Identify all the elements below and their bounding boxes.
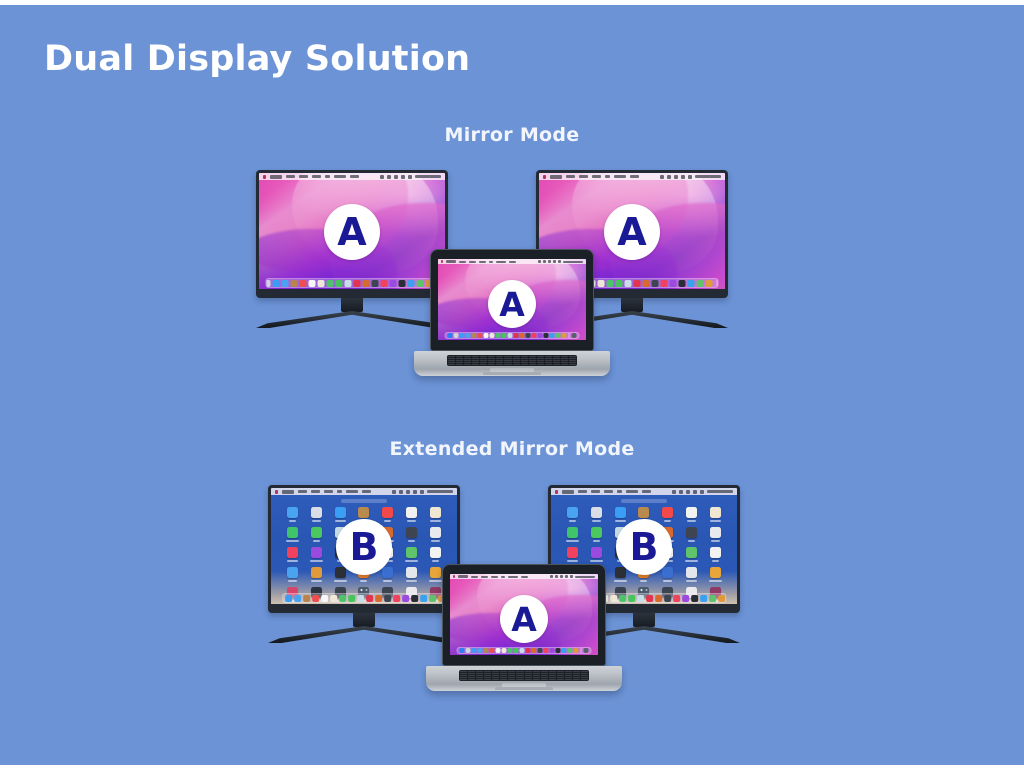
keyboard-key[interactable] — [496, 362, 503, 363]
apple-icon[interactable] — [543, 175, 546, 179]
launchpad-app-item[interactable] — [709, 567, 722, 582]
dock-item-keynote[interactable] — [562, 333, 567, 338]
menubar-clock[interactable] — [427, 490, 453, 493]
keyboard-key[interactable] — [508, 675, 515, 676]
app-icon[interactable] — [615, 507, 626, 518]
keyboard-key[interactable] — [565, 675, 572, 676]
dock-item-keynote[interactable] — [706, 280, 713, 287]
keyboard-key[interactable] — [492, 671, 499, 672]
launchpad-page-dots[interactable] — [361, 589, 368, 591]
app-icon[interactable] — [287, 547, 298, 558]
battery-icon[interactable] — [394, 175, 398, 179]
dock-item-photos[interactable] — [502, 333, 507, 338]
menubar-item[interactable] — [471, 576, 478, 578]
menubar-item[interactable] — [325, 175, 330, 178]
menubar-item[interactable] — [446, 260, 456, 263]
dock-item-tv[interactable] — [673, 595, 680, 602]
wifi-icon[interactable] — [660, 175, 664, 179]
dock-item-podcasts[interactable] — [526, 333, 531, 338]
keyboard-key[interactable] — [460, 679, 467, 680]
bluetooth-icon[interactable] — [543, 260, 546, 263]
keyboard-key[interactable] — [513, 364, 520, 365]
keyboard-key[interactable] — [537, 360, 544, 361]
dock-item-facetime[interactable] — [354, 280, 361, 287]
dock-item-photos[interactable] — [514, 648, 519, 653]
keyboard-key[interactable] — [508, 673, 515, 674]
menubar-item[interactable] — [578, 490, 587, 493]
keyboard-key[interactable] — [492, 679, 499, 680]
keyboard-key[interactable] — [504, 358, 511, 359]
battery-icon[interactable] — [674, 175, 678, 179]
dock-item-podcasts[interactable] — [384, 595, 391, 602]
keyboard-key[interactable] — [508, 671, 515, 672]
dock-item-photos[interactable] — [616, 280, 623, 287]
keyboard-key[interactable] — [472, 360, 479, 361]
dock-item-system-preferences[interactable] — [691, 595, 698, 602]
dock-item-finder[interactable] — [448, 333, 453, 338]
menubar-item[interactable] — [459, 261, 466, 263]
search-icon[interactable] — [693, 490, 697, 494]
dock-item-calendar[interactable] — [312, 595, 319, 602]
menubar-item[interactable] — [458, 575, 468, 578]
launchpad-app-item[interactable] — [335, 507, 346, 522]
keyboard-key[interactable] — [448, 356, 455, 357]
control-center-icon[interactable] — [700, 490, 704, 494]
dock-item-music[interactable] — [643, 280, 650, 287]
keyboard-key[interactable] — [573, 671, 580, 672]
app-icon[interactable] — [686, 507, 697, 518]
dock-item-maps[interactable] — [508, 648, 513, 653]
app-icon[interactable] — [311, 567, 322, 578]
macos-dock[interactable] — [445, 332, 580, 339]
keyboard-key[interactable] — [456, 360, 463, 361]
dock-item-contacts[interactable] — [303, 595, 310, 602]
dock-item-facetime[interactable] — [366, 595, 373, 602]
keyboard-key[interactable] — [573, 673, 580, 674]
keyboard-key[interactable] — [545, 360, 552, 361]
app-icon[interactable] — [686, 547, 697, 558]
keyboard-key[interactable] — [533, 675, 540, 676]
dock-item-contacts[interactable] — [472, 333, 477, 338]
battery-icon[interactable] — [548, 260, 551, 263]
keyboard-key[interactable] — [553, 356, 560, 357]
keyboard-key[interactable] — [541, 677, 548, 678]
apple-icon[interactable] — [263, 175, 266, 179]
menubar-item[interactable] — [508, 576, 518, 578]
menubar-item[interactable] — [550, 175, 562, 179]
keyboard-key[interactable] — [480, 356, 487, 357]
menubar-item[interactable] — [604, 490, 613, 493]
launchpad-search-field[interactable] — [621, 499, 667, 503]
menubar-item[interactable] — [282, 490, 294, 494]
dock-item-maps[interactable] — [496, 333, 501, 338]
keyboard-key[interactable] — [525, 675, 532, 676]
keyboard-key[interactable] — [516, 679, 523, 680]
dock-item-pages[interactable] — [700, 595, 707, 602]
launchpad-app-item[interactable] — [405, 547, 418, 562]
keyboard-key[interactable] — [492, 677, 499, 678]
keyboard-key[interactable] — [565, 677, 572, 678]
dock-item-reminders[interactable] — [502, 648, 507, 653]
launchpad-app-item[interactable] — [591, 527, 602, 542]
keyboard-key[interactable] — [456, 358, 463, 359]
launchpad-app-item[interactable] — [430, 507, 441, 522]
keyboard-key[interactable] — [525, 677, 532, 678]
keyboard-key[interactable] — [476, 675, 483, 676]
keyboard-key[interactable] — [513, 360, 520, 361]
dock-item-messages[interactable] — [637, 595, 644, 602]
keyboard-key[interactable] — [500, 675, 507, 676]
menubar-item[interactable] — [324, 490, 333, 493]
dock-item-system-preferences[interactable] — [679, 280, 686, 287]
keyboard-key[interactable] — [533, 677, 540, 678]
keyboard-key[interactable] — [504, 364, 511, 365]
dock-item-music[interactable] — [532, 648, 537, 653]
menubar-item[interactable] — [270, 175, 282, 179]
dock-item-numbers[interactable] — [709, 595, 716, 602]
macos-menubar[interactable] — [539, 173, 725, 180]
dock-item-reminders[interactable] — [330, 595, 337, 602]
keyboard-key[interactable] — [448, 358, 455, 359]
dock-item-facetime[interactable] — [634, 280, 641, 287]
keyboard-key[interactable] — [541, 673, 548, 674]
dock-item-photos[interactable] — [336, 280, 343, 287]
keyboard-key[interactable] — [508, 677, 515, 678]
keyboard-key[interactable] — [448, 362, 455, 363]
apple-icon[interactable] — [453, 575, 455, 578]
dock-item-mail[interactable] — [282, 280, 289, 287]
dock-item-maps[interactable] — [339, 595, 346, 602]
menubar-item[interactable] — [617, 490, 622, 493]
keyboard-key[interactable] — [561, 364, 568, 365]
keyboard-key[interactable] — [553, 364, 560, 365]
keyboard-key[interactable] — [456, 364, 463, 365]
macos-menubar[interactable] — [271, 488, 457, 495]
launchpad-page-dots[interactable] — [641, 589, 648, 591]
launchpad-app-item[interactable] — [591, 507, 602, 522]
laptop-keyboard[interactable] — [459, 670, 589, 681]
keyboard-key[interactable] — [492, 675, 499, 676]
keyboard-key[interactable] — [513, 356, 520, 357]
launchpad-app-item[interactable] — [615, 507, 626, 522]
keyboard-key[interactable] — [537, 362, 544, 363]
bluetooth-icon[interactable] — [399, 490, 403, 494]
keyboard-key[interactable] — [557, 673, 564, 674]
apple-icon[interactable] — [555, 490, 558, 494]
battery-icon[interactable] — [406, 490, 410, 494]
keyboard-key[interactable] — [561, 358, 568, 359]
keyboard-key[interactable] — [569, 356, 576, 357]
dock-item-launchpad[interactable] — [466, 648, 471, 653]
search-icon[interactable] — [401, 175, 405, 179]
keyboard-key[interactable] — [573, 679, 580, 680]
dock-item-trash[interactable] — [584, 648, 589, 653]
dock-item-tv[interactable] — [532, 333, 537, 338]
bluetooth-icon[interactable] — [679, 490, 683, 494]
menubar-item[interactable] — [491, 576, 498, 578]
keyboard-key[interactable] — [468, 679, 475, 680]
menubar-item[interactable] — [614, 175, 626, 178]
keyboard-key[interactable] — [565, 673, 572, 674]
keyboard-key[interactable] — [549, 671, 556, 672]
keyboard-key[interactable] — [581, 673, 588, 674]
launchpad-app-item[interactable] — [406, 507, 417, 522]
keyboard-key[interactable] — [553, 360, 560, 361]
app-icon[interactable] — [591, 547, 602, 558]
keyboard-key[interactable] — [529, 360, 536, 361]
launchpad-app-item[interactable] — [382, 507, 393, 522]
menubar-item[interactable] — [642, 490, 651, 493]
menubar-item[interactable] — [311, 490, 320, 493]
keyboard-key[interactable] — [573, 677, 580, 678]
keyboard-key[interactable] — [464, 364, 471, 365]
app-icon[interactable] — [686, 527, 697, 538]
keyboard-key[interactable] — [480, 362, 487, 363]
keyboard-key[interactable] — [476, 679, 483, 680]
dock-item-facetime[interactable] — [526, 648, 531, 653]
keyboard-key[interactable] — [529, 356, 536, 357]
app-icon[interactable] — [287, 507, 298, 518]
keyboard-key[interactable] — [480, 360, 487, 361]
launchpad-app-item[interactable] — [685, 547, 698, 562]
app-icon[interactable] — [710, 567, 721, 578]
keyboard-key[interactable] — [472, 356, 479, 357]
app-icon[interactable] — [591, 527, 602, 538]
keyboard-key[interactable] — [581, 677, 588, 678]
keyboard-key[interactable] — [581, 675, 588, 676]
dock-item-messages[interactable] — [520, 648, 525, 653]
keyboard-key[interactable] — [581, 679, 588, 680]
keyboard-key[interactable] — [468, 671, 475, 672]
laptop-keyboard[interactable] — [447, 355, 577, 366]
dock-item-launchpad[interactable] — [266, 280, 271, 287]
keyboard-key[interactable] — [500, 677, 507, 678]
app-icon[interactable] — [567, 547, 578, 558]
keyboard-key[interactable] — [545, 364, 552, 365]
menubar-item[interactable] — [346, 490, 358, 493]
dock-item-podcasts[interactable] — [652, 280, 659, 287]
launchpad-app-item[interactable] — [311, 507, 322, 522]
control-center-icon[interactable] — [570, 575, 573, 578]
menubar-item[interactable] — [562, 490, 574, 494]
launchpad-app-item[interactable] — [566, 527, 579, 542]
keyboard-key[interactable] — [484, 679, 491, 680]
keyboard-key[interactable] — [504, 360, 511, 361]
app-icon[interactable] — [710, 507, 721, 518]
dock-item-pages[interactable] — [550, 333, 555, 338]
keyboard-key[interactable] — [488, 356, 495, 357]
keyboard-key[interactable] — [516, 677, 523, 678]
app-icon[interactable] — [710, 547, 721, 558]
dock-item-messages[interactable] — [508, 333, 513, 338]
app-icon[interactable] — [287, 527, 298, 538]
dock-item-app-store[interactable] — [682, 595, 689, 602]
keyboard-key[interactable] — [460, 675, 467, 676]
keyboard-key[interactable] — [529, 362, 536, 363]
keyboard-key[interactable] — [549, 679, 556, 680]
keyboard-key[interactable] — [500, 673, 507, 674]
app-icon[interactable] — [430, 527, 441, 538]
control-center-icon[interactable] — [408, 175, 412, 179]
battery-icon[interactable] — [560, 575, 563, 578]
app-icon[interactable] — [406, 507, 417, 518]
app-icon[interactable] — [591, 507, 602, 518]
launchpad-app-item[interactable] — [311, 567, 322, 582]
app-icon[interactable] — [430, 547, 441, 558]
dock-item-app-store[interactable] — [402, 595, 409, 602]
keyboard-key[interactable] — [448, 364, 455, 365]
dock-item-tv[interactable] — [661, 280, 668, 287]
keyboard-key[interactable] — [521, 358, 528, 359]
app-icon[interactable] — [358, 507, 369, 518]
dock-item-system-preferences[interactable] — [544, 333, 549, 338]
keyboard-key[interactable] — [516, 673, 523, 674]
dock-item-messages[interactable] — [345, 280, 352, 287]
dock-item-facetime[interactable] — [514, 333, 519, 338]
menubar-item[interactable] — [337, 490, 342, 493]
app-icon[interactable] — [406, 527, 417, 538]
menubar-item[interactable] — [298, 490, 307, 493]
menubar-item[interactable] — [591, 490, 600, 493]
control-center-icon[interactable] — [420, 490, 424, 494]
dock-item-tv[interactable] — [393, 595, 400, 602]
menubar-item[interactable] — [299, 175, 308, 178]
keyboard-key[interactable] — [569, 360, 576, 361]
dock-item-safari[interactable] — [472, 648, 477, 653]
dock-item-tv[interactable] — [381, 280, 388, 287]
keyboard-key[interactable] — [460, 673, 467, 674]
launchpad-app-item[interactable] — [710, 527, 721, 542]
menubar-item[interactable] — [469, 261, 476, 263]
keyboard-key[interactable] — [488, 360, 495, 361]
menubar-item[interactable] — [334, 175, 346, 178]
dock-item-messages[interactable] — [357, 595, 364, 602]
dock-item-system-preferences[interactable] — [411, 595, 418, 602]
dock-item-facetime[interactable] — [646, 595, 653, 602]
keyboard-key[interactable] — [496, 360, 503, 361]
dock-item-app-store[interactable] — [670, 280, 677, 287]
keyboard-key[interactable] — [561, 360, 568, 361]
control-center-icon[interactable] — [688, 175, 692, 179]
dock-item-trash[interactable] — [572, 333, 577, 338]
app-icon[interactable] — [567, 527, 578, 538]
dock-item-pages[interactable] — [688, 280, 695, 287]
keyboard-key[interactable] — [480, 358, 487, 359]
dock-item-system-preferences[interactable] — [399, 280, 406, 287]
dock-item-music[interactable] — [375, 595, 382, 602]
apple-icon[interactable] — [275, 490, 278, 494]
launchpad-app-item[interactable] — [287, 547, 298, 562]
dock-item-app-store[interactable] — [390, 280, 397, 287]
launchpad-app-item[interactable] — [590, 547, 603, 562]
menubar-item[interactable] — [286, 175, 295, 178]
keyboard-key[interactable] — [460, 671, 467, 672]
dock-item-numbers[interactable] — [697, 280, 704, 287]
keyboard-key[interactable] — [545, 358, 552, 359]
search-icon[interactable] — [681, 175, 685, 179]
keyboard-key[interactable] — [561, 356, 568, 357]
dock-item-music[interactable] — [363, 280, 370, 287]
menubar-item[interactable] — [350, 175, 359, 178]
menubar-item[interactable] — [479, 261, 486, 263]
keyboard-key[interactable] — [464, 360, 471, 361]
keyboard-key[interactable] — [496, 358, 503, 359]
battery-icon[interactable] — [686, 490, 690, 494]
keyboard-key[interactable] — [557, 677, 564, 678]
menubar-item[interactable] — [312, 175, 321, 178]
search-icon[interactable] — [565, 575, 568, 578]
menubar-clock[interactable] — [415, 175, 441, 178]
launchpad-app-item[interactable] — [710, 547, 721, 562]
keyboard-key[interactable] — [480, 364, 487, 365]
keyboard-key[interactable] — [492, 673, 499, 674]
dock-item-notes[interactable] — [321, 595, 328, 602]
menubar-item[interactable] — [566, 175, 575, 178]
keyboard-key[interactable] — [525, 673, 532, 674]
keyboard-key[interactable] — [468, 673, 475, 674]
keyboard-key[interactable] — [472, 362, 479, 363]
keyboard-key[interactable] — [484, 673, 491, 674]
keyboard-key[interactable] — [472, 364, 479, 365]
keyboard-key[interactable] — [553, 362, 560, 363]
wifi-icon[interactable] — [672, 490, 676, 494]
keyboard-key[interactable] — [537, 364, 544, 365]
laptop-extended-center[interactable]: A — [426, 564, 622, 694]
menubar-clock[interactable] — [575, 576, 595, 578]
search-icon[interactable] — [553, 260, 556, 263]
menubar-item[interactable] — [501, 576, 505, 578]
keyboard-key[interactable] — [521, 360, 528, 361]
wifi-icon[interactable] — [392, 490, 396, 494]
launchpad-app-item[interactable] — [710, 507, 721, 522]
keyboard-key[interactable] — [569, 364, 576, 365]
dock-item-podcasts[interactable] — [664, 595, 671, 602]
app-icon[interactable] — [311, 527, 322, 538]
menubar-item[interactable] — [605, 175, 610, 178]
bluetooth-icon[interactable] — [555, 575, 558, 578]
keyboard-key[interactable] — [581, 671, 588, 672]
keyboard-key[interactable] — [525, 671, 532, 672]
launchpad-app-item[interactable] — [287, 567, 298, 582]
dock-item-music[interactable] — [655, 595, 662, 602]
dock-item-calendar[interactable] — [490, 648, 495, 653]
laptop-mirror-center[interactable]: A — [414, 249, 610, 379]
keyboard-key[interactable] — [464, 362, 471, 363]
keyboard-key[interactable] — [500, 679, 507, 680]
keyboard-key[interactable] — [472, 358, 479, 359]
bluetooth-icon[interactable] — [387, 175, 391, 179]
keyboard-key[interactable] — [557, 671, 564, 672]
dock-item-photos[interactable] — [628, 595, 635, 602]
keyboard-key[interactable] — [516, 671, 523, 672]
keyboard-key[interactable] — [476, 671, 483, 672]
app-icon[interactable] — [567, 507, 578, 518]
menubar-item[interactable] — [362, 490, 371, 493]
app-icon[interactable] — [335, 507, 346, 518]
launchpad-app-item[interactable] — [686, 527, 697, 542]
keyboard-key[interactable] — [529, 358, 536, 359]
launchpad-app-item[interactable] — [286, 527, 299, 542]
menubar-item[interactable] — [521, 576, 528, 578]
keyboard-key[interactable] — [468, 677, 475, 678]
keyboard-key[interactable] — [504, 362, 511, 363]
keyboard-key[interactable] — [557, 679, 564, 680]
dock-item-launchpad[interactable] — [454, 333, 459, 338]
keyboard-key[interactable] — [569, 358, 576, 359]
menubar-item[interactable] — [509, 261, 516, 263]
launchpad-app-item[interactable] — [310, 547, 323, 562]
keyboard-key[interactable] — [500, 671, 507, 672]
